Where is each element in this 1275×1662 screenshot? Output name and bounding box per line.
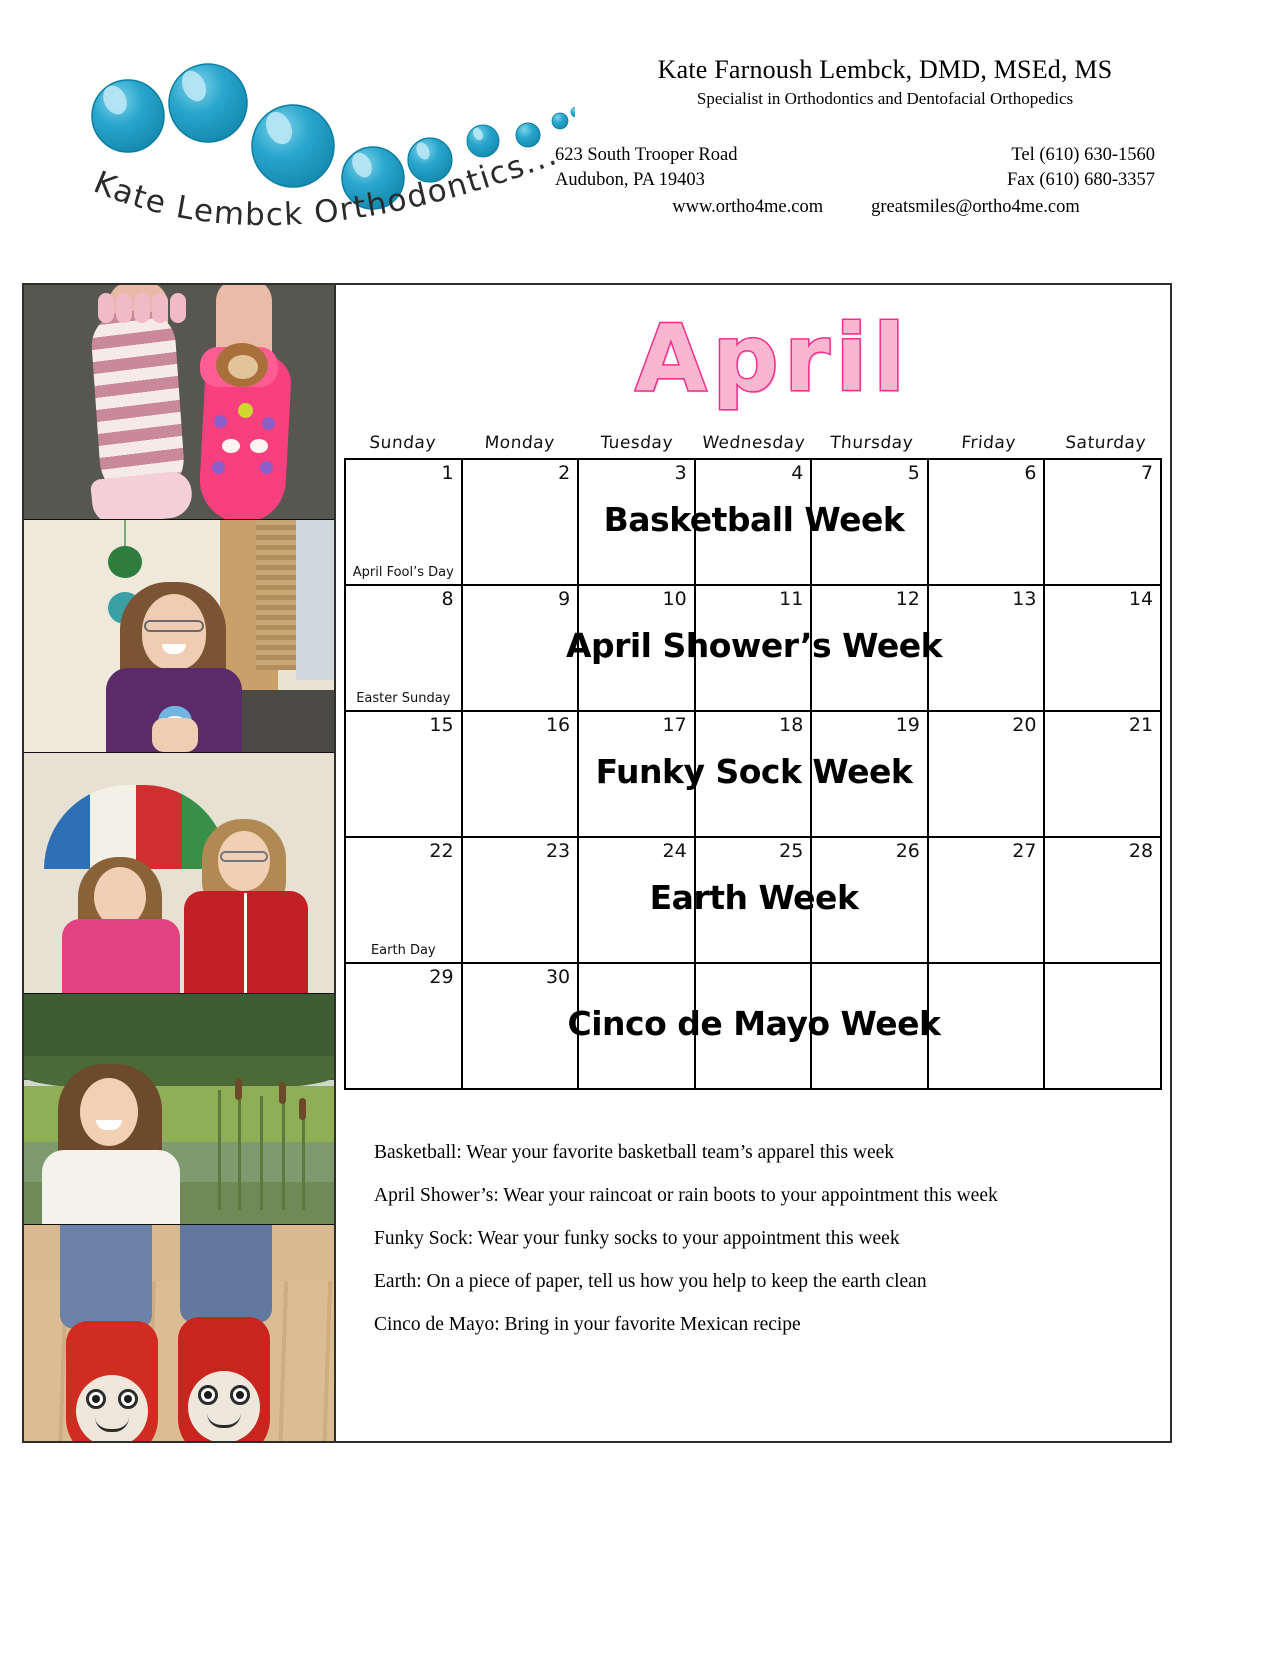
- day-cell[interactable]: 9: [463, 586, 580, 712]
- day-number: 4: [791, 462, 803, 484]
- day-number: 23: [546, 840, 570, 862]
- logo-bubbles-icon: Kate Lembck Orthodontics......: [55, 38, 575, 253]
- theme-legend: Basketball: Wear your favorite basketbal…: [374, 1142, 1170, 1336]
- day-cell[interactable]: 3: [579, 460, 696, 586]
- day-cell[interactable]: [696, 964, 813, 1090]
- day-cell[interactable]: 1April Fool’s Day: [346, 460, 463, 586]
- day-number: 15: [429, 714, 453, 736]
- day-cell[interactable]: 14: [1045, 586, 1162, 712]
- day-number: 11: [779, 588, 803, 610]
- photo-two-kids-under-rainbow-umbrella: [24, 753, 334, 994]
- day-cell[interactable]: [1045, 964, 1162, 1090]
- day-cell[interactable]: 17: [579, 712, 696, 838]
- day-cell[interactable]: 16: [463, 712, 580, 838]
- calendar-week-row: 8Easter Sunday 9 10 11 12 13 14 April Sh…: [346, 586, 1162, 712]
- day-cell[interactable]: 29: [346, 964, 463, 1090]
- day-number: 5: [908, 462, 920, 484]
- day-cell[interactable]: 5: [812, 460, 929, 586]
- day-cell[interactable]: 4: [696, 460, 813, 586]
- day-number: 10: [663, 588, 687, 610]
- calendar-body: April Sunday Monday Tuesday Wednesday Th…: [22, 283, 1172, 1443]
- address-line-1: 623 South Trooper Road: [555, 143, 737, 168]
- day-number: 22: [429, 840, 453, 862]
- day-number: 1: [441, 462, 453, 484]
- telephone: Tel (610) 630-1560: [1011, 143, 1155, 168]
- day-of-week-header-row: Sunday Monday Tuesday Wednesday Thursday…: [336, 433, 1170, 456]
- practice-specialty: Specialist in Orthodontics and Dentofaci…: [580, 89, 1190, 109]
- day-number: 7: [1141, 462, 1153, 484]
- day-number: 30: [546, 966, 570, 988]
- calendar-week-row: 22Earth Day 23 24 25 26 27 28 Earth Week: [346, 838, 1162, 964]
- dow-saturday: Saturday: [1046, 433, 1165, 456]
- day-cell[interactable]: [812, 964, 929, 1090]
- calendar-week-row: 15 16 17 18 19 20 21 Funky Sock Week: [346, 712, 1162, 838]
- day-cell[interactable]: 25: [696, 838, 813, 964]
- day-holiday-label: Easter Sunday: [346, 692, 461, 706]
- day-cell[interactable]: [579, 964, 696, 1090]
- day-cell[interactable]: 6: [929, 460, 1046, 586]
- day-cell[interactable]: 20: [929, 712, 1046, 838]
- day-number: 20: [1012, 714, 1036, 736]
- photo-strip: [24, 285, 336, 1441]
- dow-monday: Monday: [460, 433, 579, 456]
- day-cell[interactable]: 12: [812, 586, 929, 712]
- day-cell[interactable]: 26: [812, 838, 929, 964]
- day-cell[interactable]: 23: [463, 838, 580, 964]
- day-number: 16: [546, 714, 570, 736]
- day-number: 18: [779, 714, 803, 736]
- website-link[interactable]: www.ortho4me.com: [672, 195, 823, 220]
- day-number: 27: [1012, 840, 1036, 862]
- dow-friday: Friday: [929, 433, 1048, 456]
- photo-red-monster-slipper-socks: [24, 1225, 334, 1441]
- day-number: 29: [429, 966, 453, 988]
- day-number: 24: [663, 840, 687, 862]
- photo-funky-striped-and-monkey-socks: [24, 285, 334, 520]
- day-number: 13: [1012, 588, 1036, 610]
- day-cell[interactable]: 19: [812, 712, 929, 838]
- day-holiday-label: April Fool’s Day: [346, 566, 461, 580]
- day-cell[interactable]: 10: [579, 586, 696, 712]
- dow-thursday: Thursday: [812, 433, 931, 456]
- photo-girl-in-purple-holding-toy: [24, 520, 334, 753]
- address-line-2: Audubon, PA 19403: [555, 168, 705, 193]
- legend-line-earth: Earth: On a piece of paper, tell us how …: [374, 1271, 1170, 1293]
- day-number: 17: [663, 714, 687, 736]
- doctor-name: Kate Farnoush Lembck, DMD, MSEd, MS: [580, 55, 1190, 85]
- day-cell[interactable]: 30: [463, 964, 580, 1090]
- fax: Fax (610) 680-3357: [1007, 168, 1155, 193]
- day-cell[interactable]: 22Earth Day: [346, 838, 463, 964]
- legend-line-funky-sock: Funky Sock: Wear your funky socks to you…: [374, 1228, 1170, 1250]
- day-number: 14: [1129, 588, 1153, 610]
- day-number: 6: [1024, 462, 1036, 484]
- dow-sunday: Sunday: [343, 433, 462, 456]
- day-number: 8: [441, 588, 453, 610]
- day-cell[interactable]: 8Easter Sunday: [346, 586, 463, 712]
- day-number: 28: [1129, 840, 1153, 862]
- day-cell[interactable]: 21: [1045, 712, 1162, 838]
- calendar-week-row: 29 30 Cinco de Mayo Week: [346, 964, 1162, 1090]
- dow-tuesday: Tuesday: [577, 433, 696, 456]
- calendar-grid: 1April Fool’s Day 2 3 4 5 6 7 Basketball…: [344, 458, 1162, 1090]
- day-number: 2: [558, 462, 570, 484]
- month-title-area: April: [336, 285, 1170, 433]
- day-cell[interactable]: 28: [1045, 838, 1162, 964]
- email-link[interactable]: greatsmiles@ortho4me.com: [871, 195, 1080, 220]
- day-number: 21: [1129, 714, 1153, 736]
- day-cell[interactable]: 27: [929, 838, 1046, 964]
- day-number: 3: [675, 462, 687, 484]
- contact-info: 623 South Trooper Road Tel (610) 630-156…: [555, 143, 1155, 220]
- letterhead-header: Kate Lembck Orthodontics...... Kate Farn…: [0, 0, 1275, 255]
- day-number: 19: [896, 714, 920, 736]
- day-cell[interactable]: 7: [1045, 460, 1162, 586]
- legend-line-april-showers: April Shower’s: Wear your raincoat or ra…: [374, 1185, 1170, 1207]
- practice-logo: Kate Lembck Orthodontics......: [55, 38, 575, 253]
- day-cell[interactable]: 24: [579, 838, 696, 964]
- day-cell[interactable]: [929, 964, 1046, 1090]
- legend-line-basketball: Basketball: Wear your favorite basketbal…: [374, 1142, 1170, 1164]
- day-cell[interactable]: 2: [463, 460, 580, 586]
- month-title: April: [635, 313, 911, 405]
- legend-line-cinco-de-mayo: Cinco de Mayo: Bring in your favorite Me…: [374, 1314, 1170, 1336]
- day-number: 9: [558, 588, 570, 610]
- day-number: 25: [779, 840, 803, 862]
- calendar-week-row: 1April Fool’s Day 2 3 4 5 6 7 Basketball…: [346, 460, 1162, 586]
- day-holiday-label: Earth Day: [346, 944, 461, 958]
- day-cell[interactable]: 18: [696, 712, 813, 838]
- dow-wednesday: Wednesday: [695, 433, 814, 456]
- day-cell[interactable]: 15: [346, 712, 463, 838]
- calendar-panel: April Sunday Monday Tuesday Wednesday Th…: [336, 285, 1170, 1441]
- day-cell[interactable]: 13: [929, 586, 1046, 712]
- practice-identity: Kate Farnoush Lembck, DMD, MSEd, MS Spec…: [580, 55, 1190, 109]
- day-cell[interactable]: 11: [696, 586, 813, 712]
- photo-girl-by-pond-with-cattails: [24, 994, 334, 1225]
- day-number: 26: [896, 840, 920, 862]
- day-number: 12: [896, 588, 920, 610]
